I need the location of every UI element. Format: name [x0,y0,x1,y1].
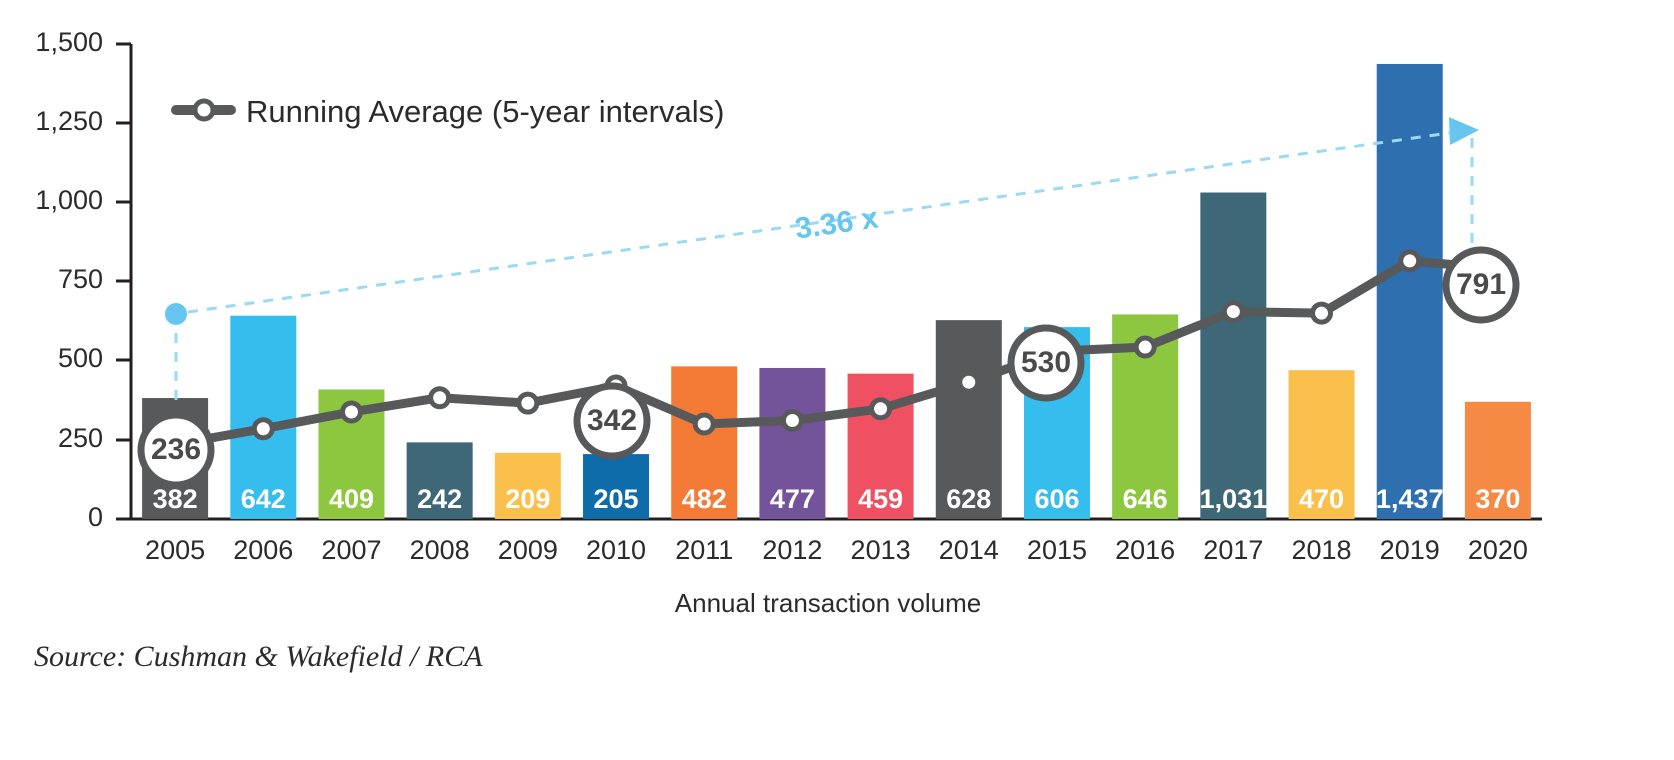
x-tick-label-2005: 2005 [145,535,205,565]
x-tick-label-2015: 2015 [1027,535,1087,565]
bar-series [142,64,1531,519]
running-average-point-2019 [1401,252,1419,270]
y-axis-labels: 1,500 1,250 1,000 750 500 250 0 [35,27,103,532]
callout-label: 530 [1021,346,1071,379]
bar-value-label-2014: 628 [946,484,991,514]
x-tick-label-2017: 2017 [1203,535,1263,565]
y-tick-label: 0 [88,502,103,532]
running-average-point-2017 [1224,303,1242,321]
growth-annotation: 3.36 x [165,117,1479,408]
x-tick-label-2007: 2007 [321,535,381,565]
running-average-point-2009 [519,394,537,412]
running-average-point-2018 [1313,304,1331,322]
running-average-point-2013 [872,400,890,418]
chart-container: 1,500 1,250 1,000 750 500 250 0 3.36 x 2… [0,0,1674,760]
x-axis-labels: 2005200620072008200920102011201220132014… [145,535,1528,565]
x-tick-label-2019: 2019 [1380,535,1440,565]
bar-value-label-2012: 477 [770,484,815,514]
x-tick-label-2020: 2020 [1468,535,1528,565]
x-tick-label-2011: 2011 [675,535,733,565]
x-tick-label-2010: 2010 [586,535,646,565]
bar-value-label-2005: 382 [153,484,198,514]
bar-value-label-2010: 205 [594,484,639,514]
callout-791: 791 [1446,250,1516,320]
x-axis-title: Annual transaction volume [675,588,981,618]
legend-label: Running Average (5-year intervals) [246,94,724,129]
bar-value-label-2017: 1,031 [1200,484,1268,514]
callout-342: 342 [577,386,647,456]
legend[interactable]: Running Average (5-year intervals) [176,94,724,129]
x-tick-label-2014: 2014 [939,535,999,565]
bar-value-label-2011: 482 [682,484,727,514]
running-average-point-2012 [783,412,801,430]
callout-label: 236 [151,433,201,466]
y-tick-label: 1,250 [35,106,103,136]
x-tick-label-2008: 2008 [410,535,470,565]
bar-value-labels: 3826424092422092054824774596286066461,03… [153,484,1521,514]
bar-value-label-2019: 1,437 [1376,484,1444,514]
bar-value-label-2009: 209 [505,484,550,514]
legend-marker-icon [195,101,213,119]
bar-value-label-2006: 642 [241,484,286,514]
bar-value-label-2015: 606 [1034,484,1079,514]
x-tick-label-2018: 2018 [1291,535,1351,565]
callout-530: 530 [1011,328,1081,398]
callout-label: 342 [587,404,637,437]
y-tick-label: 1,000 [35,185,103,215]
growth-start-dot [165,303,187,325]
bar-2017 [1200,193,1266,519]
y-tick-label: 500 [58,343,103,373]
bar-2019 [1377,64,1443,519]
running-average-point-2008 [431,389,449,407]
bar-value-label-2007: 409 [329,484,374,514]
bar-value-label-2008: 242 [417,484,462,514]
x-tick-label-2006: 2006 [233,535,293,565]
x-tick-label-2013: 2013 [851,535,911,565]
x-tick-label-2009: 2009 [498,535,558,565]
running-average-point-2011 [695,415,713,433]
growth-arrow-head [1449,117,1479,145]
source-note: Source: Cushman & Wakefield / RCA [34,640,483,674]
callout-label: 791 [1456,268,1506,301]
y-tick-label: 1,500 [35,27,103,57]
bar-value-label-2018: 470 [1299,484,1344,514]
growth-multiple-label: 3.36 x [793,201,881,245]
callout-236: 236 [141,415,211,485]
running-average-point-2006 [254,420,272,438]
running-average-point-2016 [1136,338,1154,356]
y-tick-label: 750 [58,264,103,294]
bar-value-label-2016: 646 [1123,484,1168,514]
running-average-point-2007 [342,403,360,421]
bar-value-label-2013: 459 [858,484,903,514]
x-tick-label-2012: 2012 [762,535,822,565]
y-tick-label: 250 [58,423,103,453]
x-tick-label-2016: 2016 [1115,535,1175,565]
y-axis-ticks [116,44,131,519]
bar-value-label-2020: 370 [1475,484,1520,514]
running-average-point-2014 [960,373,978,391]
